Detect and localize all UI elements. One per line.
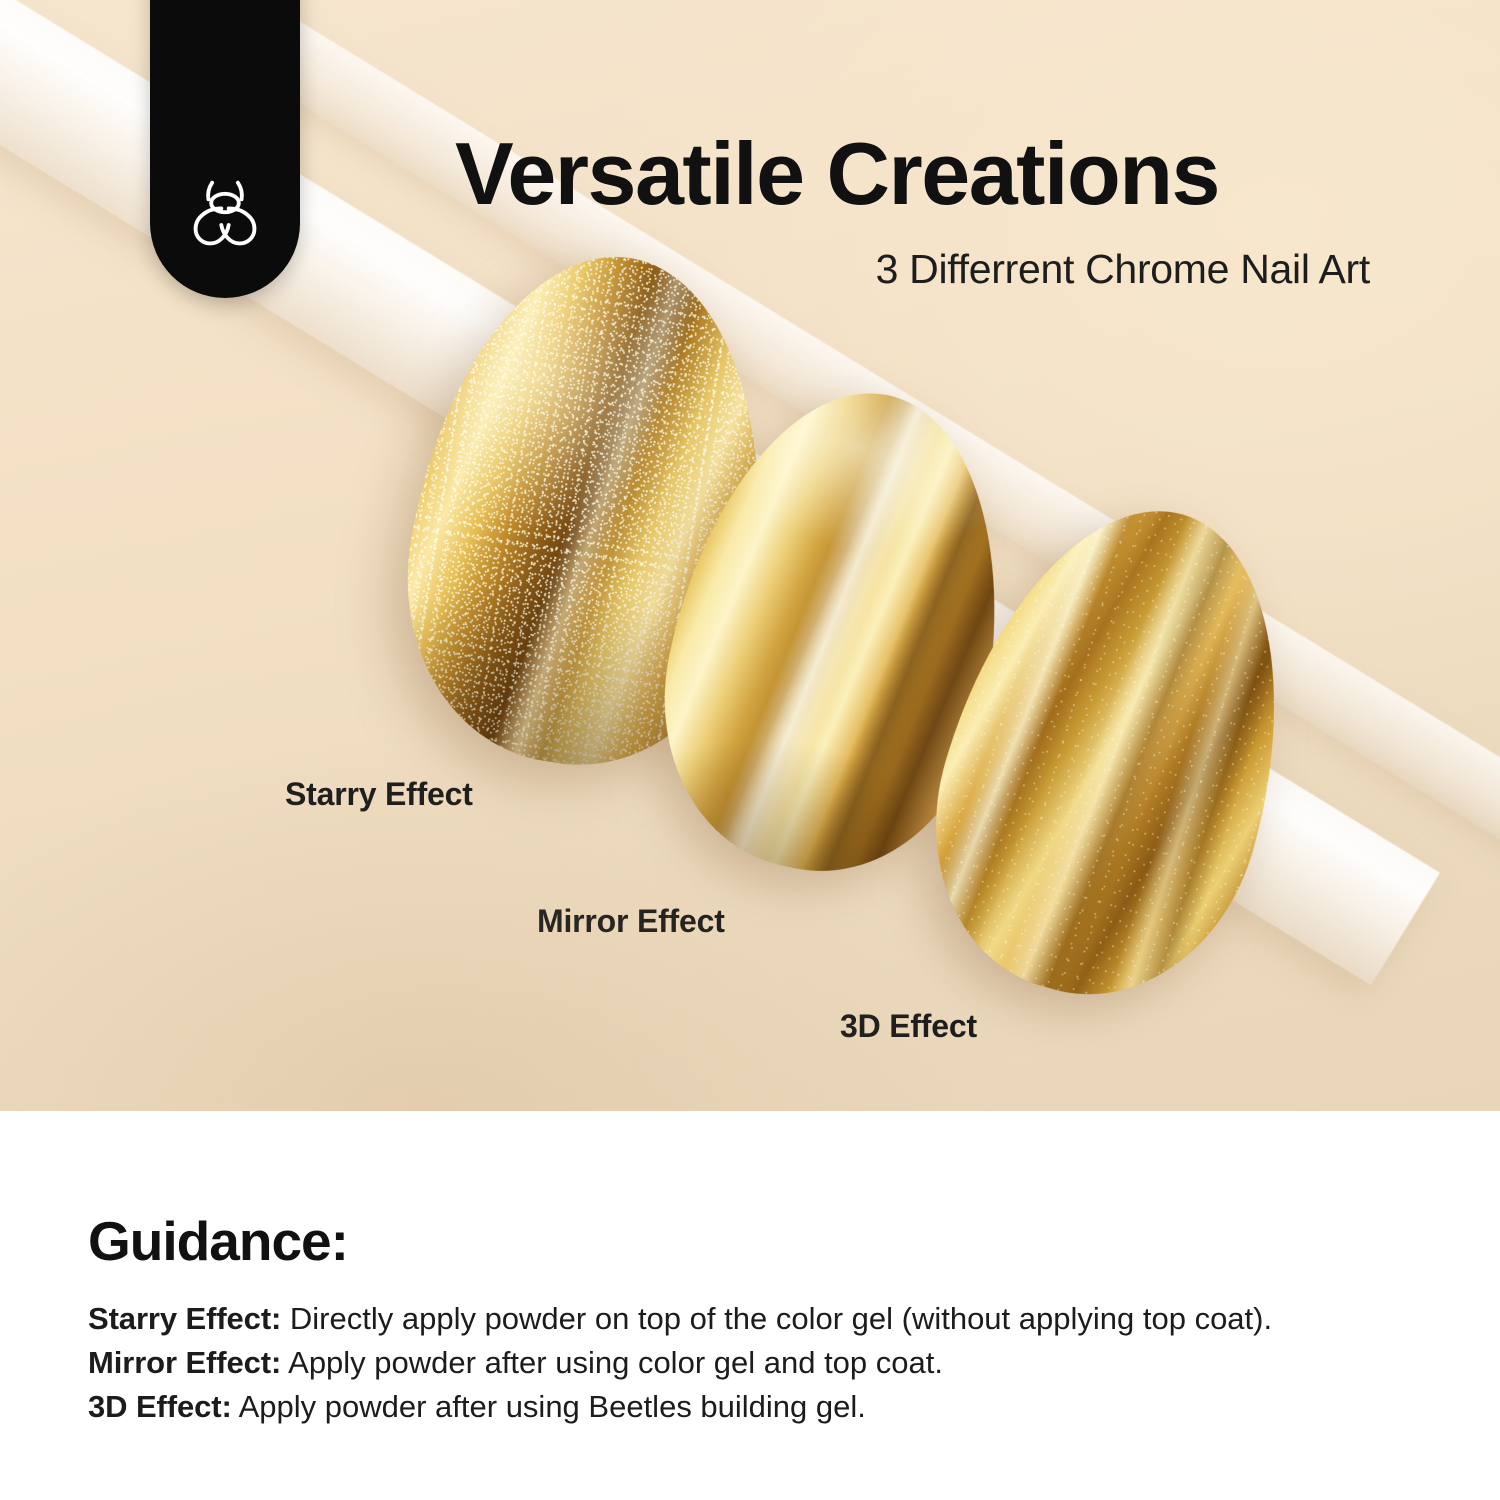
hero-photo-panel: Versatile Creations 3 Differrent Chrome … <box>0 0 1500 1111</box>
caption-starry-effect: Starry Effect <box>285 776 473 813</box>
page-subtitle: 3 Differrent Chrome Nail Art <box>455 246 1370 293</box>
caption-3d-effect: 3D Effect <box>840 1008 977 1045</box>
guidance-panel: Guidance: Starry Effect: Directly apply … <box>0 1111 1500 1500</box>
brand-tab <box>150 0 300 298</box>
guidance-label-starry: Starry Effect: <box>88 1301 281 1336</box>
guidance-label-mirror: Mirror Effect: <box>88 1345 281 1380</box>
page-title: Versatile Creations <box>455 128 1370 220</box>
guidance-item-3d: 3D Effect: Apply powder after using Beet… <box>88 1385 1430 1429</box>
beetle-logo-icon <box>179 168 271 260</box>
guidance-item-starry: Starry Effect: Directly apply powder on … <box>88 1297 1430 1341</box>
caption-mirror-effect: Mirror Effect <box>537 903 725 940</box>
guidance-text-starry: Directly apply powder on top of the colo… <box>281 1301 1272 1336</box>
guidance-text-3d: Apply powder after using Beetles buildin… <box>232 1389 866 1424</box>
guidance-item-mirror: Mirror Effect: Apply powder after using … <box>88 1341 1430 1385</box>
guidance-title: Guidance: <box>88 1209 1430 1273</box>
guidance-text-mirror: Apply powder after using color gel and t… <box>281 1345 943 1380</box>
guidance-label-3d: 3D Effect: <box>88 1389 232 1424</box>
product-infographic: Versatile Creations 3 Differrent Chrome … <box>0 0 1500 1500</box>
